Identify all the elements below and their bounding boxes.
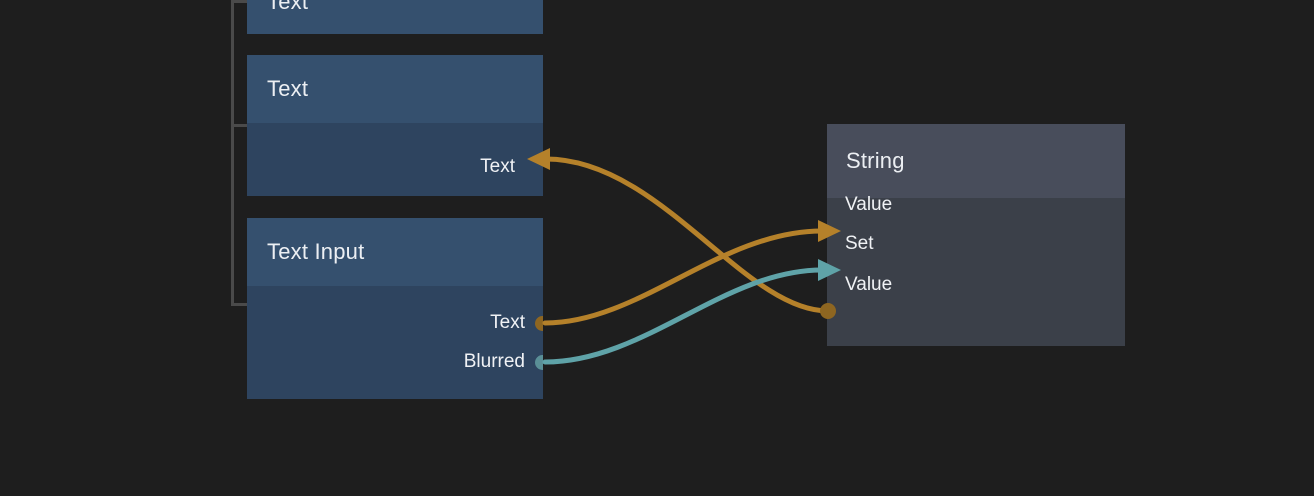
port-label: Value [845,274,892,296]
node-title: String [846,148,905,174]
node-text[interactable]: Text Text [247,55,543,196]
node-text-top[interactable]: Text [247,0,543,34]
node-title: Text [267,76,308,102]
port-row-text-out[interactable]: Text [490,311,543,335]
port-row-blurred-out[interactable]: Blurred [464,350,543,374]
node-title: Text Input [267,239,364,265]
node-header[interactable]: String [827,124,1125,198]
edge-string-value-to-text[interactable] [546,159,828,311]
edge-blurred-to-string-set[interactable] [545,270,822,362]
port-label: Value [845,194,892,216]
port-dot-blurred[interactable] [535,355,543,370]
node-graph-canvas[interactable]: Text Text Text Text Input Text Blurred [0,0,1314,496]
port-row-value-in[interactable]: Value [827,193,892,217]
node-body: Value Set Value [827,198,1125,346]
node-header[interactable]: Text Input [247,218,543,286]
node-body: Text [247,123,543,196]
port-row-text-in[interactable]: Text [480,155,525,179]
node-header[interactable]: Text [247,55,543,123]
node-header[interactable]: Text [247,0,543,34]
node-body: Text Blurred [247,286,543,399]
edge-text-to-string-value[interactable] [545,231,822,323]
node-title: Text [267,0,308,15]
port-dot-text[interactable] [535,316,543,331]
port-label: Text [490,312,525,334]
port-label: Set [845,233,874,255]
node-text-input[interactable]: Text Input Text Blurred [247,218,543,399]
port-row-value-out[interactable]: Value [827,273,892,297]
port-label: Text [480,156,515,178]
port-label: Blurred [464,351,525,373]
node-string[interactable]: String Value Set Value [827,124,1125,346]
port-row-set-in[interactable]: Set [827,232,874,256]
